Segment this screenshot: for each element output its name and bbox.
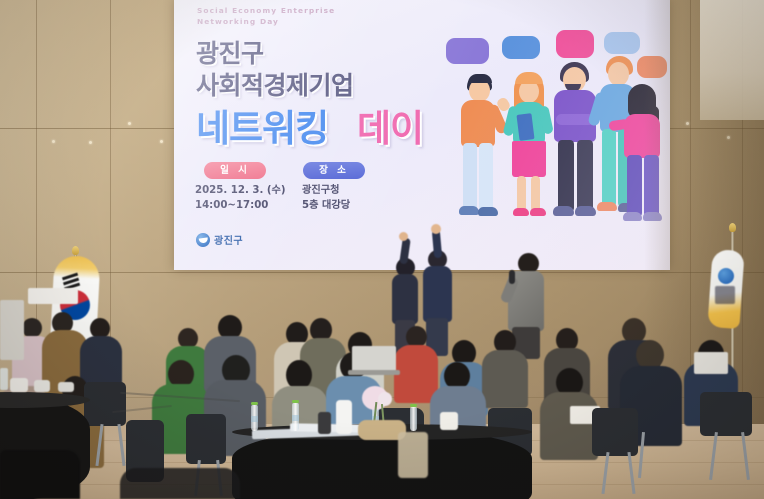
flag-finial <box>72 246 79 255</box>
speech-bubble-lightblue <box>604 32 640 54</box>
poster-illustration <box>432 10 668 258</box>
paper-cup <box>58 382 74 392</box>
gwangjin-gu-logo-text: 광진구 <box>214 232 243 247</box>
torso <box>392 274 418 324</box>
poster-title-pink: 데이 <box>357 98 423 152</box>
chair-back <box>186 414 226 464</box>
speech-bubble-purple <box>446 38 489 64</box>
monitor <box>694 352 728 374</box>
water-bottle <box>410 407 417 431</box>
bottle-label <box>251 416 258 422</box>
foreground-chair <box>0 450 80 499</box>
poster-title-blue: 네트워킹 <box>196 98 328 152</box>
torso <box>423 266 452 322</box>
poster-heading-line2: 사회적경제기업 <box>196 66 354 102</box>
ceiling-light-panel <box>700 0 764 120</box>
gwangjin-emblem-icon <box>718 268 734 284</box>
projection-screen: Social Economy Enterprise Networking Day… <box>174 0 670 270</box>
fabric-drape <box>398 432 428 478</box>
bottle-cap <box>410 404 417 407</box>
foreground-chair <box>120 468 240 499</box>
lectern <box>0 300 24 360</box>
attendee-body <box>482 350 528 408</box>
flag-finial <box>729 223 736 232</box>
microphone-icon <box>509 270 515 284</box>
water-bottle <box>0 368 8 390</box>
hand <box>399 232 408 241</box>
wall-fixture <box>160 140 163 143</box>
poster-heading-line1: 광진구 <box>196 34 264 70</box>
poster-date-text: 2025. 12. 3. (수) 14:00~17:00 <box>195 183 286 213</box>
chair-back <box>84 382 126 426</box>
chair-back <box>700 392 752 436</box>
wall-fixture <box>89 141 92 144</box>
poster-place-badge: 장 소 <box>303 162 365 179</box>
paper-cup <box>10 378 28 392</box>
poster-date-badge: 일 시 <box>204 162 266 179</box>
bottle-cap <box>292 400 299 403</box>
laptop-base <box>348 370 400 375</box>
gwangjin-gu-emblem-icon <box>196 233 210 247</box>
gwangjin-gu-logo: 광진구 <box>196 232 243 247</box>
poster-eyebrow: Social Economy Enterprise Networking Day <box>197 5 335 27</box>
chair-back <box>592 408 638 456</box>
attendee-body <box>540 392 598 460</box>
wall-fixture <box>128 122 131 125</box>
speech-bubble-pink <box>556 30 594 58</box>
event-poster: Social Economy Enterprise Networking Day… <box>174 0 670 270</box>
wall-sign <box>28 288 78 304</box>
laptop <box>352 346 396 372</box>
attendee-head <box>22 318 42 338</box>
photo-scene: Social Economy Enterprise Networking Day… <box>0 0 764 499</box>
paper-cup <box>34 380 50 392</box>
tumbler <box>318 412 331 434</box>
wall-fixture <box>52 140 55 143</box>
screen-edge-shadow <box>644 0 670 270</box>
hand <box>431 224 441 234</box>
bottle-cap <box>251 402 258 405</box>
cup <box>440 412 458 430</box>
thermos <box>336 400 352 434</box>
bottle-label <box>292 415 299 421</box>
speech-bubble-blue <box>502 36 540 59</box>
poster-place-text: 광진구청 5층 대강당 <box>302 183 350 213</box>
